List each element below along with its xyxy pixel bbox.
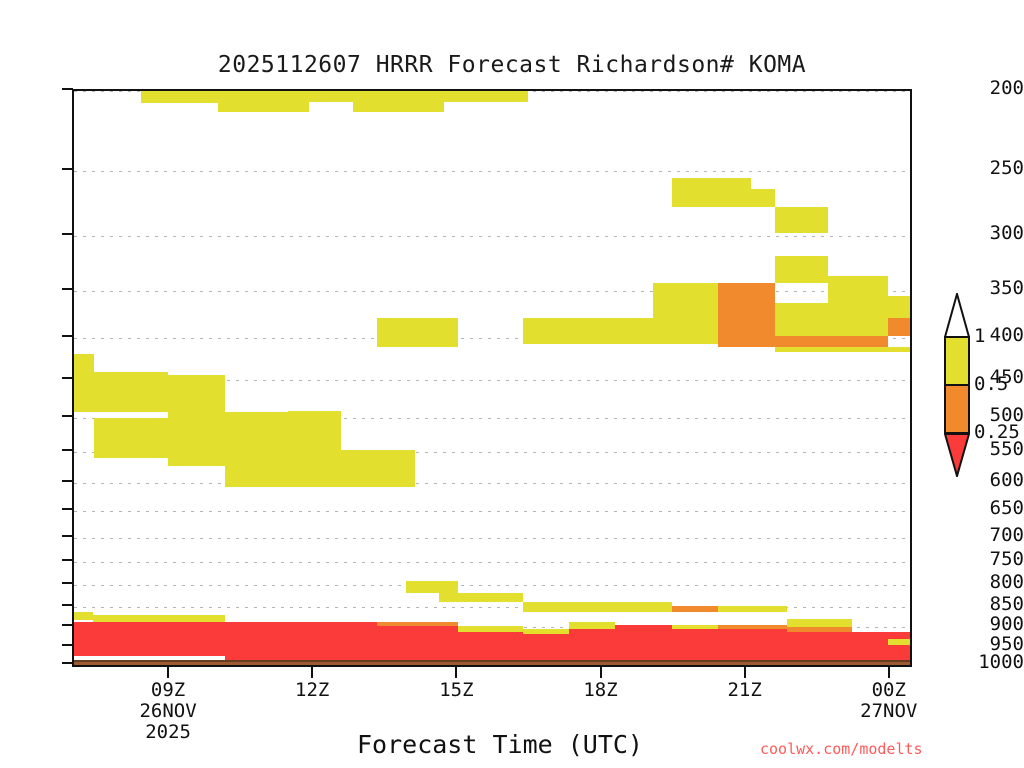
y-axis-tick-label: 250 <box>958 159 1024 178</box>
chart-title: 2025112607 HRRR Forecast Richardson# KOM… <box>0 52 1024 78</box>
colorbar-divider <box>944 384 970 386</box>
cloud-cell <box>775 336 828 347</box>
colorbar-divider <box>944 336 970 338</box>
x-axis-tick-date: 27NOV <box>829 701 949 721</box>
cloud-cell <box>569 629 615 659</box>
y-axis-tick-mark <box>62 480 73 482</box>
cloud-cell <box>775 207 828 233</box>
cloud-cell <box>458 632 523 659</box>
x-axis-tick-label: 21Z <box>685 680 805 700</box>
y-axis-tick-label: 900 <box>958 615 1024 634</box>
cloud-cell <box>406 581 459 593</box>
x-axis-tick-label: 12Z <box>252 680 372 700</box>
x-axis-tick-label: 09Z <box>108 680 228 700</box>
cloud-cell <box>718 283 776 347</box>
y-axis-tick-label: 750 <box>958 550 1024 569</box>
cloud-cell <box>569 336 607 344</box>
y-axis-tick-label: 800 <box>958 573 1024 592</box>
cloud-cell <box>775 256 828 283</box>
y-axis-tick-mark <box>62 88 73 90</box>
cloud-cell <box>94 372 168 412</box>
y-axis-tick-mark <box>62 168 73 170</box>
cloud-cell <box>225 412 287 487</box>
cloud-cell <box>852 632 910 659</box>
colorbar-segment-orange <box>944 385 970 433</box>
x-axis-tick-label: 18Z <box>541 680 661 700</box>
x-axis-tick-mark <box>455 667 457 678</box>
cloud-cell <box>309 91 352 102</box>
cloud-cell <box>569 622 615 629</box>
cloud-cell <box>523 602 614 612</box>
cloud-cell <box>672 606 718 612</box>
x-axis-tick-label: 00Z <box>829 680 949 700</box>
cloud-cell <box>444 91 528 102</box>
cloud-cell <box>718 189 776 207</box>
terrain-fill <box>74 660 910 665</box>
cloud-cell <box>672 629 718 660</box>
y-axis-tick-label: 850 <box>958 595 1024 614</box>
cloud-cell <box>225 622 376 659</box>
cloud-cell <box>615 602 673 612</box>
cloud-cell <box>828 276 888 335</box>
cloud-cell <box>888 318 910 335</box>
y-axis-tick-mark <box>62 335 73 337</box>
x-axis-title: Forecast Time (UTC) <box>160 730 840 759</box>
colorbar-under-arrow <box>944 433 970 477</box>
x-axis-tick-mark <box>888 667 890 678</box>
x-axis-tick-mark <box>311 667 313 678</box>
colorbar-tick-label: 0.5 <box>974 375 1008 394</box>
cloud-cell <box>341 450 415 486</box>
terrain-top-edge <box>74 660 910 662</box>
cloud-cell <box>787 632 852 659</box>
cloud-cell <box>523 634 569 659</box>
cloud-cell <box>615 625 673 660</box>
cloud-cell <box>353 91 444 112</box>
cloud-cell <box>93 615 225 623</box>
x-axis-tick-date: 26NOV <box>108 701 228 721</box>
cloud-cell <box>653 283 718 344</box>
colorbar: 10.50.25 <box>944 293 970 478</box>
cloud-cell <box>74 354 94 412</box>
cloud-cell <box>828 336 888 347</box>
x-axis-tick-mark <box>600 667 602 678</box>
cloud-cell <box>94 418 168 458</box>
y-axis-tick-mark <box>62 233 73 235</box>
cloud-cell <box>74 612 93 620</box>
cloud-cell <box>439 593 523 602</box>
x-axis-tick-label: 15Z <box>396 680 516 700</box>
cloud-cell <box>218 91 309 112</box>
cloud-cell <box>74 622 225 656</box>
cloud-cell <box>775 303 828 336</box>
cloud-cover-cells <box>74 91 910 665</box>
gridline <box>74 665 910 666</box>
cloud-cell <box>888 639 910 645</box>
y-axis-tick-mark <box>62 624 73 626</box>
y-axis-tick-mark <box>62 288 73 290</box>
colorbar-tick-label: 1 <box>974 327 985 346</box>
y-axis-tick-mark <box>62 662 73 664</box>
cloud-cell <box>288 411 341 487</box>
chart-canvas: 2025112607 HRRR Forecast Richardson# KOM… <box>0 0 1024 768</box>
colorbar-tick-label: 0.25 <box>974 423 1020 442</box>
y-axis-tick-mark <box>62 508 73 510</box>
y-axis-tick-label: 700 <box>958 526 1024 545</box>
x-axis-tick-mark <box>167 667 169 678</box>
y-axis-tick-mark <box>62 449 73 451</box>
cloud-cell <box>168 375 226 466</box>
cloud-cell <box>377 626 459 659</box>
y-axis-tick-label: 200 <box>958 79 1024 98</box>
cloud-cell <box>141 91 218 103</box>
plot-area <box>72 89 912 667</box>
y-axis-tick-mark <box>62 415 73 417</box>
cloud-cell <box>888 296 910 318</box>
x-axis-tick-mark <box>744 667 746 678</box>
y-axis-tick-mark <box>62 559 73 561</box>
y-axis-tick-mark <box>62 535 73 537</box>
cloud-cell <box>718 629 788 659</box>
colorbar-over-arrow <box>944 293 970 337</box>
y-axis-tick-label: 300 <box>958 224 1024 243</box>
y-axis-tick-label: 650 <box>958 499 1024 518</box>
y-axis-tick-mark <box>62 644 73 646</box>
y-axis-tick-mark <box>62 604 73 606</box>
colorbar-segment-yellow <box>944 337 970 385</box>
watermark-link[interactable]: coolwx.com/modelts <box>760 740 1010 758</box>
cloud-cell <box>377 318 459 347</box>
y-axis-tick-mark <box>62 582 73 584</box>
cloud-cell <box>787 619 852 628</box>
y-axis-tick-mark <box>62 377 73 379</box>
cloud-cell <box>718 606 788 612</box>
cloud-cell <box>775 347 910 352</box>
y-axis-tick-label: 1000 <box>958 653 1024 672</box>
